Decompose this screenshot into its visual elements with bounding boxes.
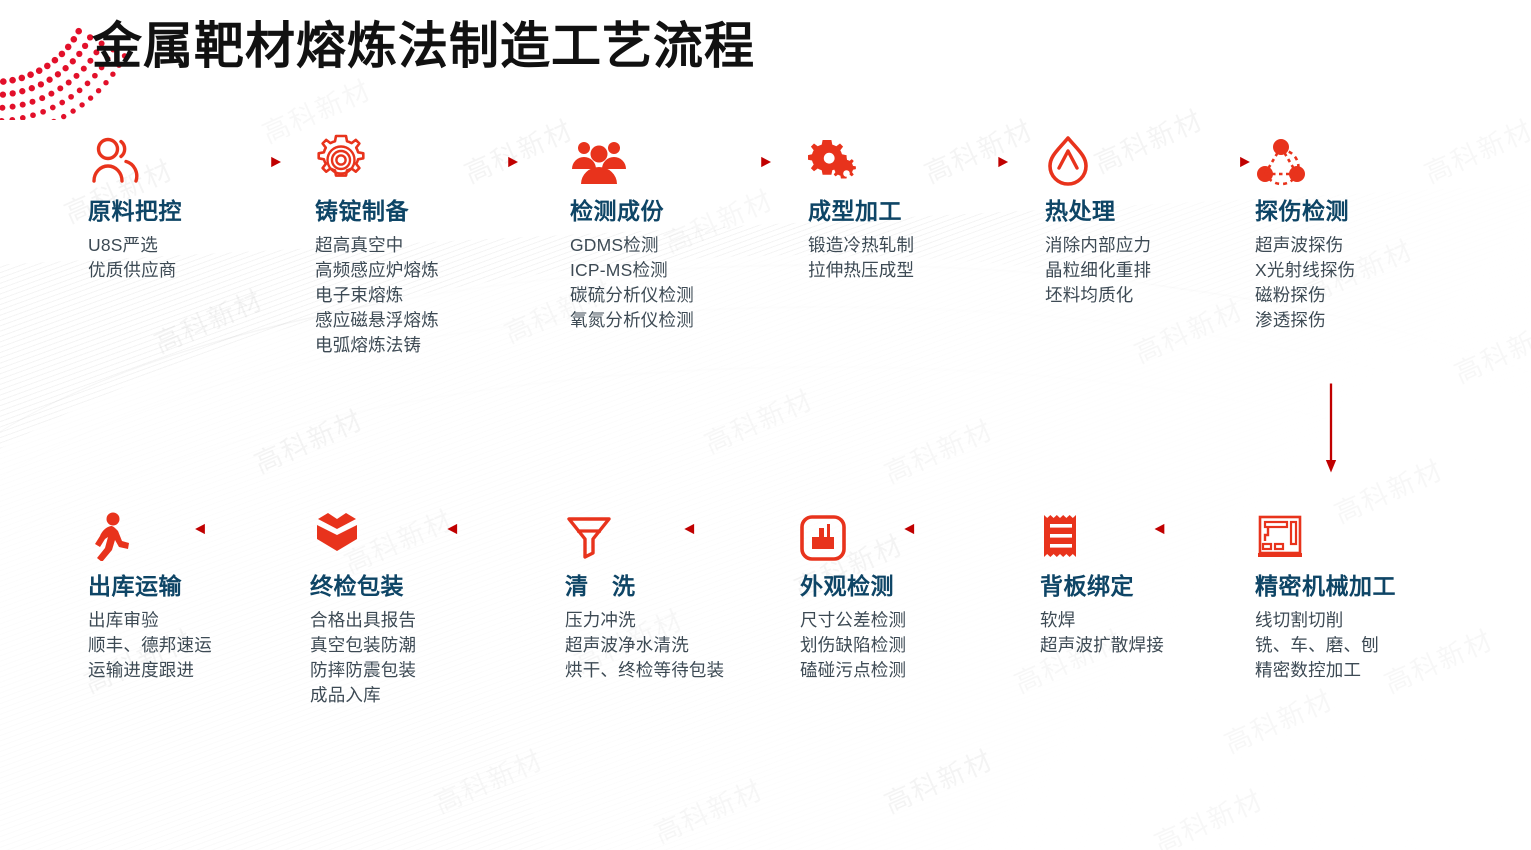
step-detail-line: 超声波探伤 [1255,233,1470,258]
flow-arrow-left [443,521,521,537]
process-step[interactable]: 探伤检测超声波探伤X光射线探伤磁粉探伤渗透探伤 [1255,130,1470,333]
step-detail-line: 超声波净水清洗 [565,633,780,658]
step-detail-line: 氧氮分析仪检测 [570,308,785,333]
step-detail-line: 超高真空中 [315,233,530,258]
step-detail-line: 坯料均质化 [1045,283,1260,308]
step-title: 成型加工 [808,198,1023,224]
step-title: 热处理 [1045,198,1260,224]
step-detail-line: X光射线探伤 [1255,258,1470,283]
flow-arrow-left [191,521,265,537]
step-title: 检测成份 [570,198,785,224]
step-title: 原料把控 [88,198,303,224]
step-detail-line: 真空包装防潮 [310,633,525,658]
step-detail-line: 线切割切削 [1255,608,1470,633]
cnc-machine-icon [1255,505,1470,561]
flow-arrow-right [450,154,522,170]
step-detail-list: 合格出具报告真空包装防潮防摔防震包装成品入库 [310,608,525,707]
step-detail-list: 超声波探伤X光射线探伤磁粉探伤渗透探伤 [1255,233,1470,332]
step-detail-line: 锻造冷热轧制 [808,233,1023,258]
step-detail-line: 铣、车、磨、刨 [1255,633,1470,658]
step-detail-line: 电弧熔炼法铸 [315,333,530,358]
step-detail-line: 烘干、终检等待包装 [565,658,780,683]
step-detail-line: 超声波扩散焊接 [1040,633,1255,658]
step-detail-line: 合格出具报告 [310,608,525,633]
flow-arrow-left [680,521,758,537]
step-detail-list: U8S严选优质供应商 [88,233,303,283]
step-detail-line: 优质供应商 [88,258,303,283]
step-title: 清 洗 [565,573,780,599]
step-detail-line: 软焊 [1040,608,1255,633]
step-detail-line: 磁粉探伤 [1255,283,1470,308]
process-step[interactable]: 成型加工锻造冷热轧制拉伸热压成型 [808,130,1023,283]
step-detail-line: 电子束熔炼 [315,283,530,308]
step-title: 精密机械加工 [1255,573,1470,599]
step-detail-line: 出库审验 [88,608,303,633]
process-step[interactable]: 原料把控U8S严选优质供应商 [88,130,303,283]
step-detail-line: 磕碰污点检测 [800,658,1015,683]
process-flow-diagram: 原料把控U8S严选优质供应商 铸锭制备超高真空中高频感应炉熔炼电子束熔炼感应磁悬… [0,0,1531,850]
step-detail-list: 线切割切削铣、车、磨、刨精密数控加工 [1255,608,1470,683]
step-detail-line: 顺丰、德邦速运 [88,633,303,658]
step-title: 外观检测 [800,573,1015,599]
step-detail-list: 软焊超声波扩散焊接 [1040,608,1255,658]
molecule-icon [1255,130,1470,186]
step-detail-list: 出库审验顺丰、德邦速运运输进度跟进 [88,608,303,683]
step-detail-line: 消除内部应力 [1045,233,1260,258]
step-detail-line: 感应磁悬浮熔炼 [315,308,530,333]
step-title: 探伤检测 [1255,198,1470,224]
step-detail-list: 尺寸公差检测划伤缺陷检测磕碰污点检测 [800,608,1015,683]
step-detail-line: 防摔防震包装 [310,658,525,683]
flow-arrow-right [925,154,1013,170]
step-detail-line: ICP-MS检测 [570,258,785,283]
flow-arrow-down [1323,378,1339,478]
process-step[interactable]: 精密机械加工线切割切削铣、车、磨、刨精密数控加工 [1255,505,1470,683]
step-detail-line: 高频感应炉熔炼 [315,258,530,283]
step-detail-line: 成品入库 [310,683,525,708]
flow-arrow-left [1150,521,1232,537]
step-detail-line: 碳硫分析仪检测 [570,283,785,308]
step-title: 背板绑定 [1040,573,1255,599]
flow-arrow-right [213,154,285,170]
step-detail-line: 精密数控加工 [1255,658,1470,683]
flow-arrow-left [900,521,978,537]
step-detail-line: 压力冲洗 [565,608,780,633]
step-detail-line: 渗透探伤 [1255,308,1470,333]
step-detail-line: 运输进度跟进 [88,658,303,683]
step-detail-line: 尺寸公差检测 [800,608,1015,633]
step-detail-line: GDMS检测 [570,233,785,258]
flow-arrow-right [1163,154,1255,170]
step-detail-line: 划伤缺陷检测 [800,633,1015,658]
step-detail-list: 锻造冷热轧制拉伸热压成型 [808,233,1023,283]
step-title: 出库运输 [88,573,303,599]
step-title: 终检包装 [310,573,525,599]
flow-arrow-right [686,154,776,170]
step-detail-list: 消除内部应力晶粒细化重排坯料均质化 [1045,233,1260,308]
step-detail-line: 晶粒细化重排 [1045,258,1260,283]
step-detail-list: 超高真空中高频感应炉熔炼电子束熔炼感应磁悬浮熔炼电弧熔炼法铸 [315,233,530,357]
step-title: 铸锭制备 [315,198,530,224]
step-detail-line: 拉伸热压成型 [808,258,1023,283]
step-detail-line: U8S严选 [88,233,303,258]
step-detail-list: GDMS检测ICP-MS检测碳硫分析仪检测氧氮分析仪检测 [570,233,785,332]
step-detail-list: 压力冲洗超声波净水清洗烘干、终检等待包装 [565,608,780,683]
